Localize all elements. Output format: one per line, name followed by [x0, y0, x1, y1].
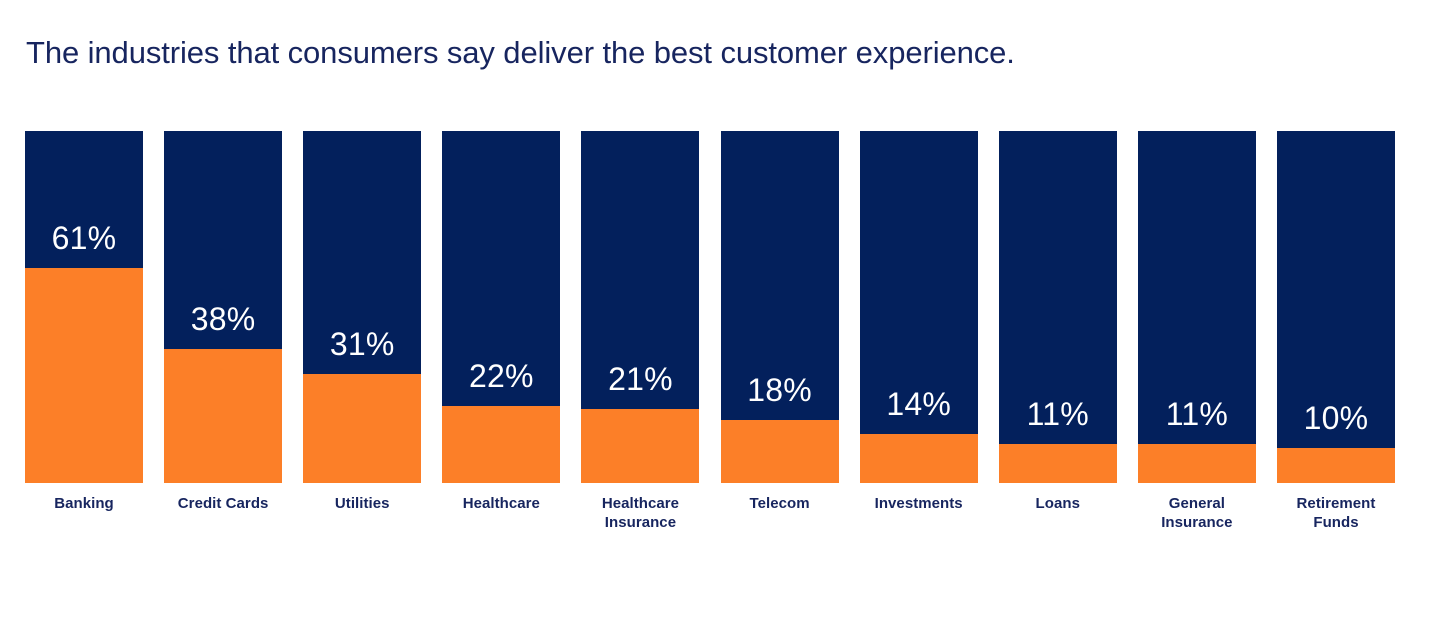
bar-group[interactable]: 10% [1277, 131, 1395, 483]
category-label-line: Investments [860, 494, 978, 513]
bar-fill [25, 268, 143, 483]
category-label: GeneralInsurance [1138, 494, 1256, 532]
category-axis-labels: BankingCredit CardsUtilitiesHealthcareHe… [25, 494, 1395, 532]
bar-fill [860, 434, 978, 483]
category-label-line: Telecom [721, 494, 839, 513]
bar-fill [1138, 444, 1256, 483]
category-label-line: Banking [25, 494, 143, 513]
category-label-line: Healthcare [581, 494, 699, 513]
bar-track-background [581, 131, 699, 483]
bar-track-background [860, 131, 978, 483]
bar-group[interactable]: 31% [303, 131, 421, 483]
bar-fill [303, 374, 421, 483]
bar-chart-plot-area: 61%38%31%22%21%18%14%11%11%10% [25, 131, 1395, 483]
category-label-line: Credit Cards [164, 494, 282, 513]
bar-fill [164, 349, 282, 483]
bar-group[interactable]: 18% [721, 131, 839, 483]
category-label: Utilities [303, 494, 421, 513]
bar-track-background [1277, 131, 1395, 483]
bar-track-background [303, 131, 421, 483]
bar-track-background [999, 131, 1117, 483]
category-label-line: Utilities [303, 494, 421, 513]
category-label: Banking [25, 494, 143, 513]
category-label-line: Retirement [1277, 494, 1395, 513]
category-label: Loans [999, 494, 1117, 513]
bar-fill [721, 420, 839, 483]
bar-track-background [25, 131, 143, 483]
bar-track-background [1138, 131, 1256, 483]
bar-group[interactable]: 11% [999, 131, 1117, 483]
bar-track-background [442, 131, 560, 483]
bar-group[interactable]: 14% [860, 131, 978, 483]
category-label: Investments [860, 494, 978, 513]
category-label-line: General [1138, 494, 1256, 513]
category-label-line: Loans [999, 494, 1117, 513]
bar-group[interactable]: 38% [164, 131, 282, 483]
category-label: HealthcareInsurance [581, 494, 699, 532]
chart-page: The industries that consumers say delive… [0, 0, 1438, 618]
category-label: Credit Cards [164, 494, 282, 513]
bar-track-background [164, 131, 282, 483]
category-label-line: Healthcare [442, 494, 560, 513]
category-label-line: Funds [1277, 513, 1395, 532]
bar-fill [1277, 448, 1395, 483]
category-label: RetirementFunds [1277, 494, 1395, 532]
bar-group[interactable]: 61% [25, 131, 143, 483]
bar-track-background [721, 131, 839, 483]
bar-fill [581, 409, 699, 483]
bar-fill [999, 444, 1117, 483]
bar-fill [442, 406, 560, 483]
category-label: Telecom [721, 494, 839, 513]
bar-group[interactable]: 21% [581, 131, 699, 483]
category-label-line: Insurance [581, 513, 699, 532]
category-label: Healthcare [442, 494, 560, 513]
page-title: The industries that consumers say delive… [26, 32, 1406, 74]
category-label-line: Insurance [1138, 513, 1256, 532]
bar-group[interactable]: 11% [1138, 131, 1256, 483]
bar-group[interactable]: 22% [442, 131, 560, 483]
